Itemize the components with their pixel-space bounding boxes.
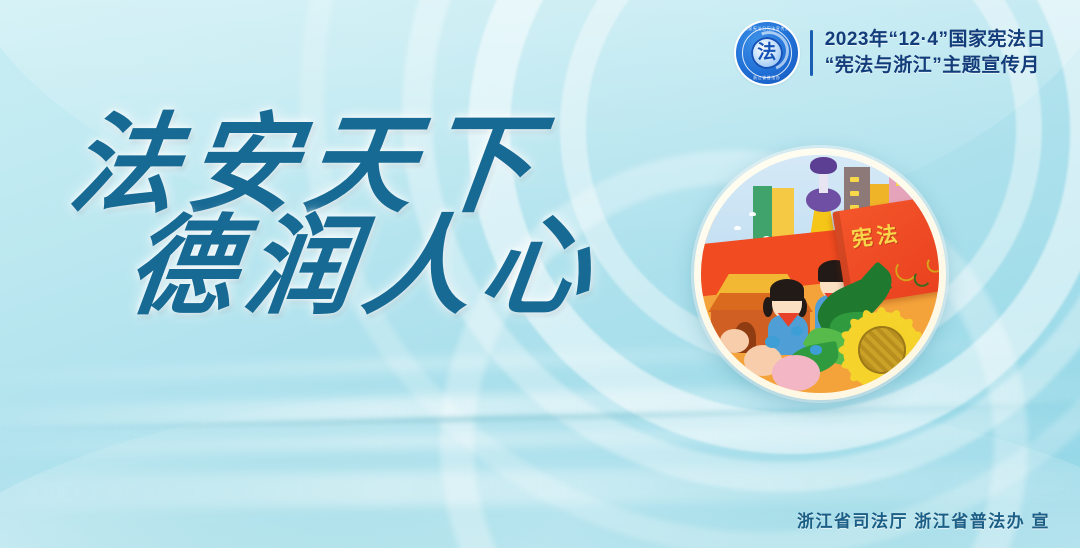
constitution-seal-logo-icon: 国家宪法日宪法宣传周 浙江省普法办 法 bbox=[736, 22, 798, 84]
artwork-flower-blue bbox=[765, 336, 779, 348]
artwork-canvas: 宪法 bbox=[701, 155, 939, 393]
header-lockup: 国家宪法日宪法宣传周 浙江省普法办 法 2023年“12·4”国家宪法日 “宪法… bbox=[736, 22, 1046, 84]
artwork-flower-peach bbox=[720, 329, 749, 353]
artwork-tower-cap bbox=[810, 157, 836, 174]
medallion-artwork: 宪法 bbox=[694, 148, 946, 400]
artwork-flower-pink bbox=[772, 355, 820, 391]
slogan-block: 法安天下 德润人心 bbox=[70, 112, 610, 324]
artwork-girl-hair bbox=[770, 279, 804, 301]
artwork-building-dome bbox=[896, 167, 908, 186]
footer-credit: 浙江省司法厅 浙江省普法办 宣 bbox=[797, 507, 1050, 532]
slogan-line-2: 德润人心 bbox=[121, 214, 617, 324]
seal-glyph: 法 bbox=[736, 43, 798, 62]
artwork-vine-curl bbox=[926, 254, 939, 273]
header-divider bbox=[810, 30, 813, 76]
artwork-sunflower bbox=[830, 298, 935, 393]
header-title-line-1: 2023年“12·4”国家宪法日 bbox=[825, 29, 1046, 51]
header-title-line-2: “宪法与浙江”主题宣传月 bbox=[825, 55, 1046, 77]
slogan-line-1: 法安天下 bbox=[63, 112, 617, 222]
seal-micro-text-bottom: 浙江省普法办 bbox=[736, 76, 798, 80]
artwork-dove bbox=[749, 212, 756, 216]
artwork-window bbox=[850, 177, 860, 182]
header-title-block: 2023年“12·4”国家宪法日 “宪法与浙江”主题宣传月 bbox=[825, 29, 1046, 77]
background-streak-3 bbox=[0, 464, 1080, 511]
artwork-book-title: 宪法 bbox=[850, 217, 903, 253]
artwork-window bbox=[850, 191, 860, 196]
poster-root: 国家宪法日宪法宣传周 浙江省普法办 法 2023年“12·4”国家宪法日 “宪法… bbox=[0, 0, 1080, 548]
artwork-sunflower-center bbox=[858, 326, 906, 374]
